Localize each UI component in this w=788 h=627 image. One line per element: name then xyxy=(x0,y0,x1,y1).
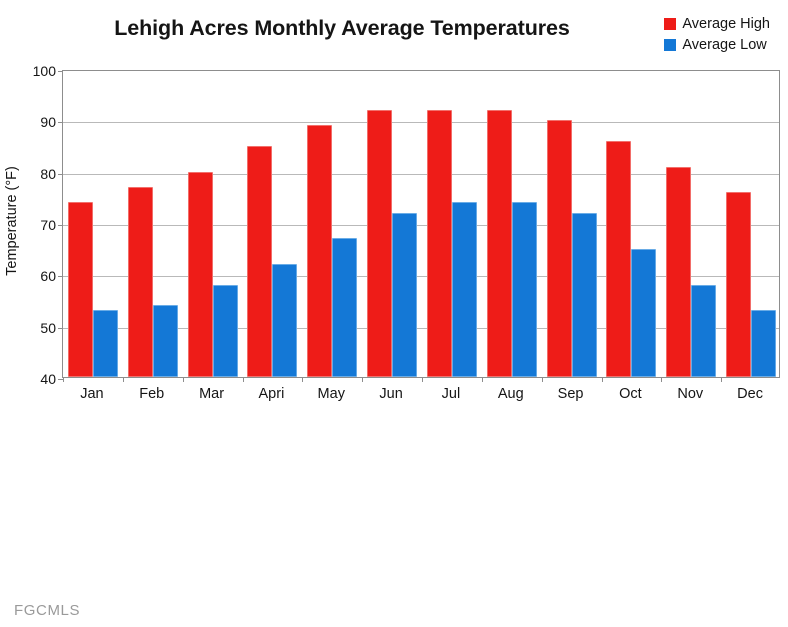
bar-group xyxy=(68,71,118,377)
plot-area: 405060708090100 xyxy=(62,70,780,378)
bar-average-low[interactable] xyxy=(392,213,417,377)
x-axis-tick-label: Jan xyxy=(80,386,103,402)
x-axis-tick-label: Oct xyxy=(619,386,642,402)
x-axis-tick-mark xyxy=(243,377,244,382)
y-axis-tick-label: 60 xyxy=(40,268,56,284)
bar-average-low[interactable] xyxy=(93,310,118,377)
y-axis-tick-label: 40 xyxy=(40,371,56,387)
bar-average-high[interactable] xyxy=(547,120,572,377)
bar-average-low[interactable] xyxy=(452,202,477,377)
y-axis-tick-label: 50 xyxy=(40,320,56,336)
watermark: FGCMLS xyxy=(14,602,80,619)
bar-average-low[interactable] xyxy=(213,285,238,377)
bar-group xyxy=(427,71,477,377)
bar-average-high[interactable] xyxy=(427,110,452,377)
legend-item-label: Average Low xyxy=(682,38,766,53)
legend-item[interactable]: Average Low xyxy=(664,36,770,54)
bar-average-high[interactable] xyxy=(247,146,272,377)
x-axis-tick-mark xyxy=(362,377,363,382)
bar-average-low[interactable] xyxy=(691,285,716,377)
x-axis-labels: JanFebMarApriMayJunJulAugSepOctNovDec xyxy=(62,386,780,408)
x-axis-tick-label: Mar xyxy=(199,386,224,402)
bar-average-low[interactable] xyxy=(153,305,178,377)
legend-item-label: Average High xyxy=(682,17,770,32)
bar-group xyxy=(128,71,178,377)
legend-item[interactable]: Average High xyxy=(664,15,770,33)
bar-average-low[interactable] xyxy=(572,213,597,377)
x-axis-tick-mark xyxy=(183,377,184,382)
bar-average-high[interactable] xyxy=(367,110,392,377)
y-axis-tick-label: 100 xyxy=(33,63,56,79)
x-axis-tick-label: Apri xyxy=(259,386,285,402)
legend-swatch-red xyxy=(664,18,676,30)
x-axis-tick-label: Jun xyxy=(379,386,402,402)
y-axis-tick-label: 80 xyxy=(40,166,56,182)
bar-group xyxy=(666,71,716,377)
bar-average-high[interactable] xyxy=(726,192,751,377)
x-axis-tick-mark xyxy=(661,377,662,382)
chart-container: Lehigh Acres Monthly Average Temperature… xyxy=(0,0,788,627)
x-axis-tick-mark xyxy=(721,377,722,382)
x-axis-tick-mark xyxy=(602,377,603,382)
bar-average-low[interactable] xyxy=(512,202,537,377)
bar-average-low[interactable] xyxy=(751,310,776,377)
bar-group xyxy=(547,71,597,377)
bars-layer xyxy=(63,71,779,377)
chart-title: Lehigh Acres Monthly Average Temperature… xyxy=(62,16,622,41)
x-axis-tick-mark xyxy=(123,377,124,382)
bar-average-low[interactable] xyxy=(631,249,656,377)
x-axis-tick-mark xyxy=(302,377,303,382)
bar-average-high[interactable] xyxy=(666,167,691,377)
y-axis-tick-label: 90 xyxy=(40,114,56,130)
bar-average-high[interactable] xyxy=(188,172,213,377)
x-axis-tick-label: Jul xyxy=(442,386,461,402)
x-axis-tick-label: Sep xyxy=(558,386,584,402)
bar-average-high[interactable] xyxy=(68,202,93,377)
bar-group xyxy=(726,71,776,377)
bar-average-low[interactable] xyxy=(272,264,297,377)
legend-swatch-blue xyxy=(664,39,676,51)
bar-average-low[interactable] xyxy=(332,238,357,377)
bar-group xyxy=(606,71,656,377)
bar-average-high[interactable] xyxy=(128,187,153,377)
bar-group xyxy=(367,71,417,377)
y-axis-title: Temperature (°F) xyxy=(4,136,20,306)
x-axis-tick-mark xyxy=(482,377,483,382)
bar-group xyxy=(307,71,357,377)
bar-group xyxy=(487,71,537,377)
bar-group xyxy=(247,71,297,377)
x-axis-tick-label: Feb xyxy=(139,386,164,402)
x-axis-tick-label: Dec xyxy=(737,386,763,402)
chart-legend: Average HighAverage Low xyxy=(664,15,770,54)
x-axis-tick-label: May xyxy=(318,386,345,402)
bar-group xyxy=(188,71,238,377)
x-axis-tick-mark xyxy=(422,377,423,382)
bar-average-high[interactable] xyxy=(307,125,332,377)
bar-average-high[interactable] xyxy=(606,141,631,377)
bar-average-high[interactable] xyxy=(487,110,512,377)
x-axis-tick-label: Aug xyxy=(498,386,524,402)
x-axis-tick-mark xyxy=(63,377,64,382)
x-axis-tick-label: Nov xyxy=(677,386,703,402)
x-axis-tick-mark xyxy=(542,377,543,382)
y-axis-tick-label: 70 xyxy=(40,217,56,233)
